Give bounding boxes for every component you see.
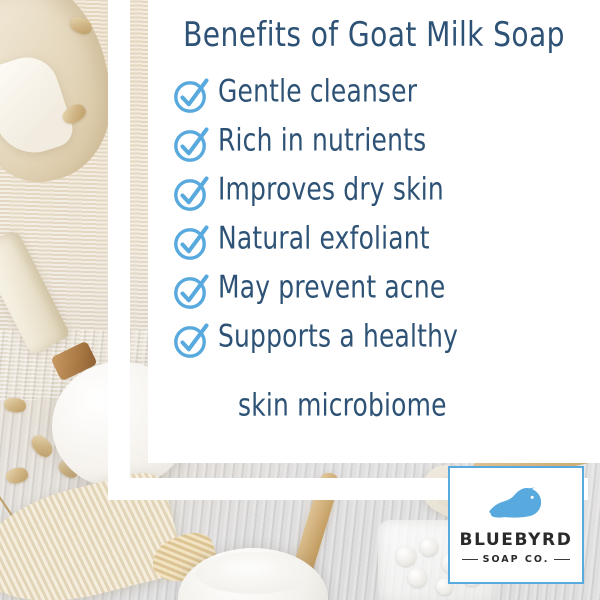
frame-left-band [108, 0, 130, 500]
check-circle-icon [172, 270, 212, 312]
content-panel: Benefits of Goat Milk Soap Gentle cleans… [148, 0, 600, 463]
prop-cream-jar-lid [196, 552, 312, 594]
benefits-list: Gentle cleanser Rich in nutrients [172, 72, 592, 366]
page-title: Benefits of Goat Milk Soap [155, 14, 593, 54]
logo-rule-right [554, 559, 570, 561]
prop-pebble [396, 546, 416, 566]
brand-logo: BLUEBYRD SOAP CO. [448, 466, 584, 584]
logo-rule-left [462, 559, 478, 561]
benefit-label: Gentle cleanser [218, 68, 417, 116]
logo-tagline: SOAP CO. [483, 554, 550, 565]
prop-pebble [408, 568, 427, 587]
list-item: Improves dry skin [172, 170, 592, 218]
list-item: Rich in nutrients [172, 121, 592, 169]
list-item: Supports a healthy [172, 317, 592, 365]
prop-pebble [420, 538, 438, 556]
benefit-label: Natural exfoliant [218, 215, 430, 263]
check-circle-icon [172, 172, 212, 214]
check-circle-icon [172, 319, 212, 361]
list-item: Gentle cleanser [172, 72, 592, 120]
benefit-label: Supports a healthy [218, 313, 458, 361]
benefit-label-continuation: skin microbiome [238, 388, 447, 424]
bird-icon [485, 478, 547, 530]
benefit-label: May prevent acne [218, 264, 445, 312]
benefit-label: Improves dry skin [218, 166, 444, 214]
check-circle-icon [172, 123, 212, 165]
list-item: Natural exfoliant [172, 219, 592, 267]
check-circle-icon [172, 221, 212, 263]
check-circle-icon [172, 74, 212, 116]
logo-wordmark: BLUEBYRD [450, 530, 582, 550]
benefit-label: Rich in nutrients [218, 117, 426, 165]
logo-tagline-row: SOAP CO. [450, 554, 582, 565]
list-item: May prevent acne [172, 268, 592, 316]
infographic-canvas: Benefits of Goat Milk Soap Gentle cleans… [0, 0, 600, 600]
